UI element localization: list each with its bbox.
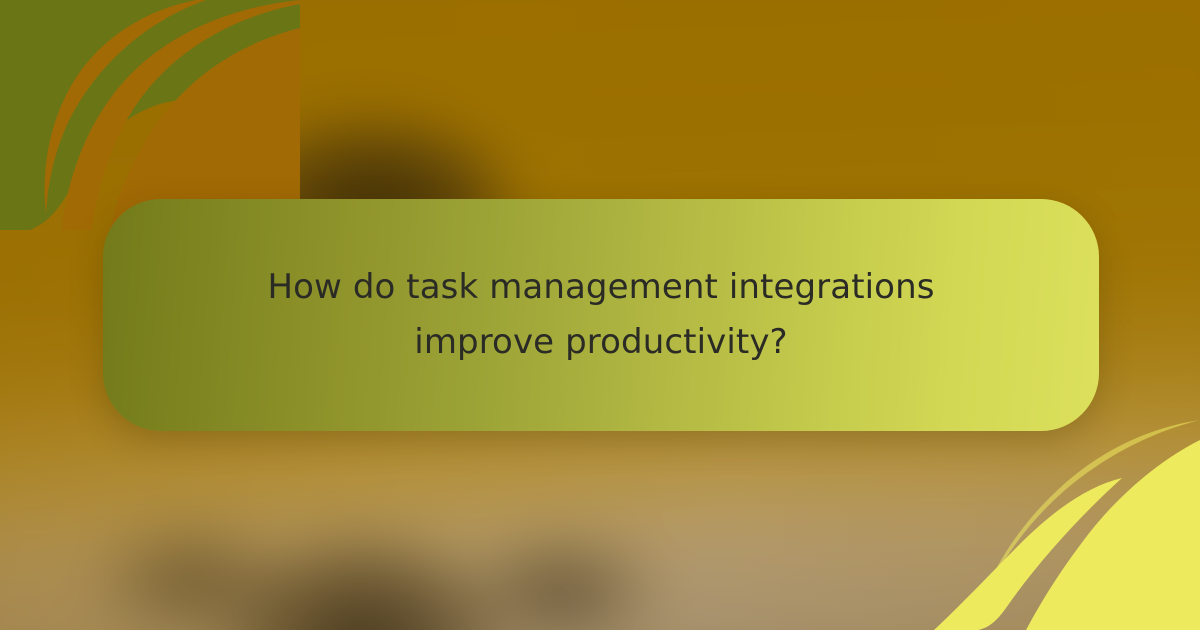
question-card: How do task management integrations impr…	[103, 199, 1099, 431]
question-text: How do task management integrations impr…	[261, 260, 941, 371]
social-card-canvas: How do task management integrations impr…	[0, 0, 1200, 630]
